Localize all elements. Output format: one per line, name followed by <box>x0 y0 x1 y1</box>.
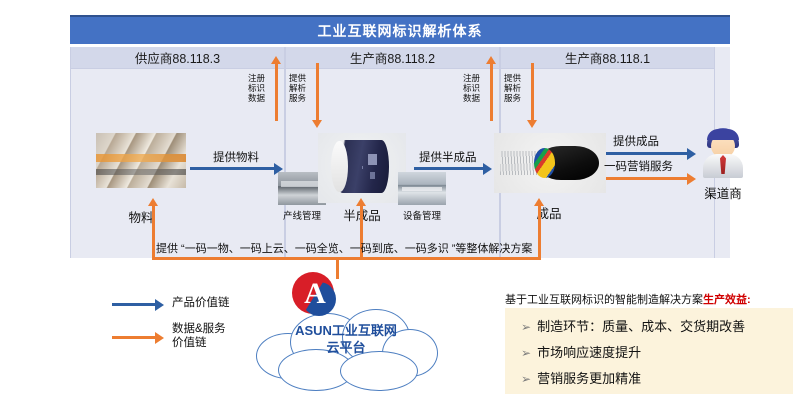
optical-cable-shape <box>537 146 600 180</box>
photo-material <box>96 133 186 188</box>
caption-material: 物料 <box>96 207 186 226</box>
label-provide-resolution-service-1: 提供解析服务 <box>289 73 306 103</box>
column-label-manufacturer-1: 生产商88.118.1 <box>565 48 650 67</box>
cloud-platform-label: ASUN工业互联网 云平台 <box>256 322 436 356</box>
arrow-provide-resolution-service-1 <box>316 63 319 121</box>
benefits-heading: 基于工业互联网标识的智能制造解决方案生产效益: <box>505 291 751 307</box>
caption-finished-product: 成品 <box>504 203 594 222</box>
label-provide-finished-product: 提供成品 <box>613 133 659 149</box>
slide-canvas: 工业互联网标识解析体系 供应商88.118.3 生产商88.118.2 生产商8… <box>0 0 800 402</box>
cloud-label-line2: 云平台 <box>326 340 365 355</box>
logo-letter: A <box>301 277 329 311</box>
photo-equipment <box>398 172 446 205</box>
caption-channel-merchant: 渠道商 <box>700 183 746 202</box>
asun-logo-icon: A <box>292 272 338 318</box>
arrow-provide-finished-product <box>606 152 688 155</box>
photo-semi-finished <box>318 133 406 203</box>
column-label-supplier: 供应商88.118.3 <box>135 48 220 67</box>
page-title: 工业互联网标识解析体系 <box>318 21 483 41</box>
bullet-icon: ➢ <box>521 346 531 360</box>
label-provide-material: 提供物料 <box>213 149 259 165</box>
arrow-provide-material <box>190 167 275 170</box>
arrow-provide-resolution-service-2 <box>531 63 534 121</box>
legend-label-product-value-chain: 产品价值链 <box>172 296 230 310</box>
benefit-item-3: ➢营销服务更加精准 <box>521 368 641 387</box>
label-one-code-marketing-service: 一码营销服务 <box>604 158 673 174</box>
cable-spool-shape <box>335 140 390 193</box>
solution-description: 提供 “一码一物、一码上云、一码全览、一码到底、一码多识 ”等整体解决方案 <box>156 240 532 256</box>
column-label-manufacturer-2: 生产商88.118.2 <box>350 48 435 67</box>
label-provide-resolution-service-2: 提供解析服务 <box>504 73 521 103</box>
arrow-register-identity-data-1 <box>275 63 278 121</box>
legend-label-data-service-value-chain: 数据&服务 价值链 <box>172 322 226 350</box>
benefit-item-2: ➢市场响应速度提升 <box>521 342 641 361</box>
arrow-provide-semi-finished <box>414 167 484 170</box>
arrow-solution-to-material <box>152 205 155 258</box>
column-header-supplier: 供应商88.118.3 <box>71 47 284 69</box>
arrow-solution-to-finished-product <box>538 205 541 258</box>
diagram-title-bar: 工业互联网标识解析体系 <box>70 15 730 44</box>
solution-bracket-line <box>152 257 541 260</box>
legend-arrow-data-service-value-chain <box>112 336 156 339</box>
label-register-identity-data-2: 注册标识数据 <box>463 73 480 103</box>
photo-finished-product <box>494 133 606 193</box>
legend-arrow-product-value-chain <box>112 303 156 306</box>
arrow-register-identity-data-2 <box>490 63 493 121</box>
caption-equipment-management: 设备管理 <box>392 208 452 222</box>
channel-merchant-avatar-icon <box>700 128 746 178</box>
benefits-box: ➢制造环节：质量、成本、交货期改善 ➢市场响应速度提升 ➢营销服务更加精准 <box>505 308 793 394</box>
arrow-one-code-marketing-service <box>606 177 688 180</box>
bullet-icon: ➢ <box>521 320 531 334</box>
bullet-icon: ➢ <box>521 372 531 386</box>
cloud-label-line1: ASUN工业互联网 <box>295 323 397 338</box>
label-provide-semi-finished: 提供半成品 <box>419 149 477 165</box>
benefit-item-1: ➢制造环节：质量、成本、交货期改善 <box>521 316 745 335</box>
benefits-heading-highlight: 生产效益: <box>703 294 751 306</box>
benefits-heading-prefix: 基于工业互联网标识的智能制造解决方案 <box>505 294 703 306</box>
label-register-identity-data-1: 注册标识数据 <box>248 73 265 103</box>
